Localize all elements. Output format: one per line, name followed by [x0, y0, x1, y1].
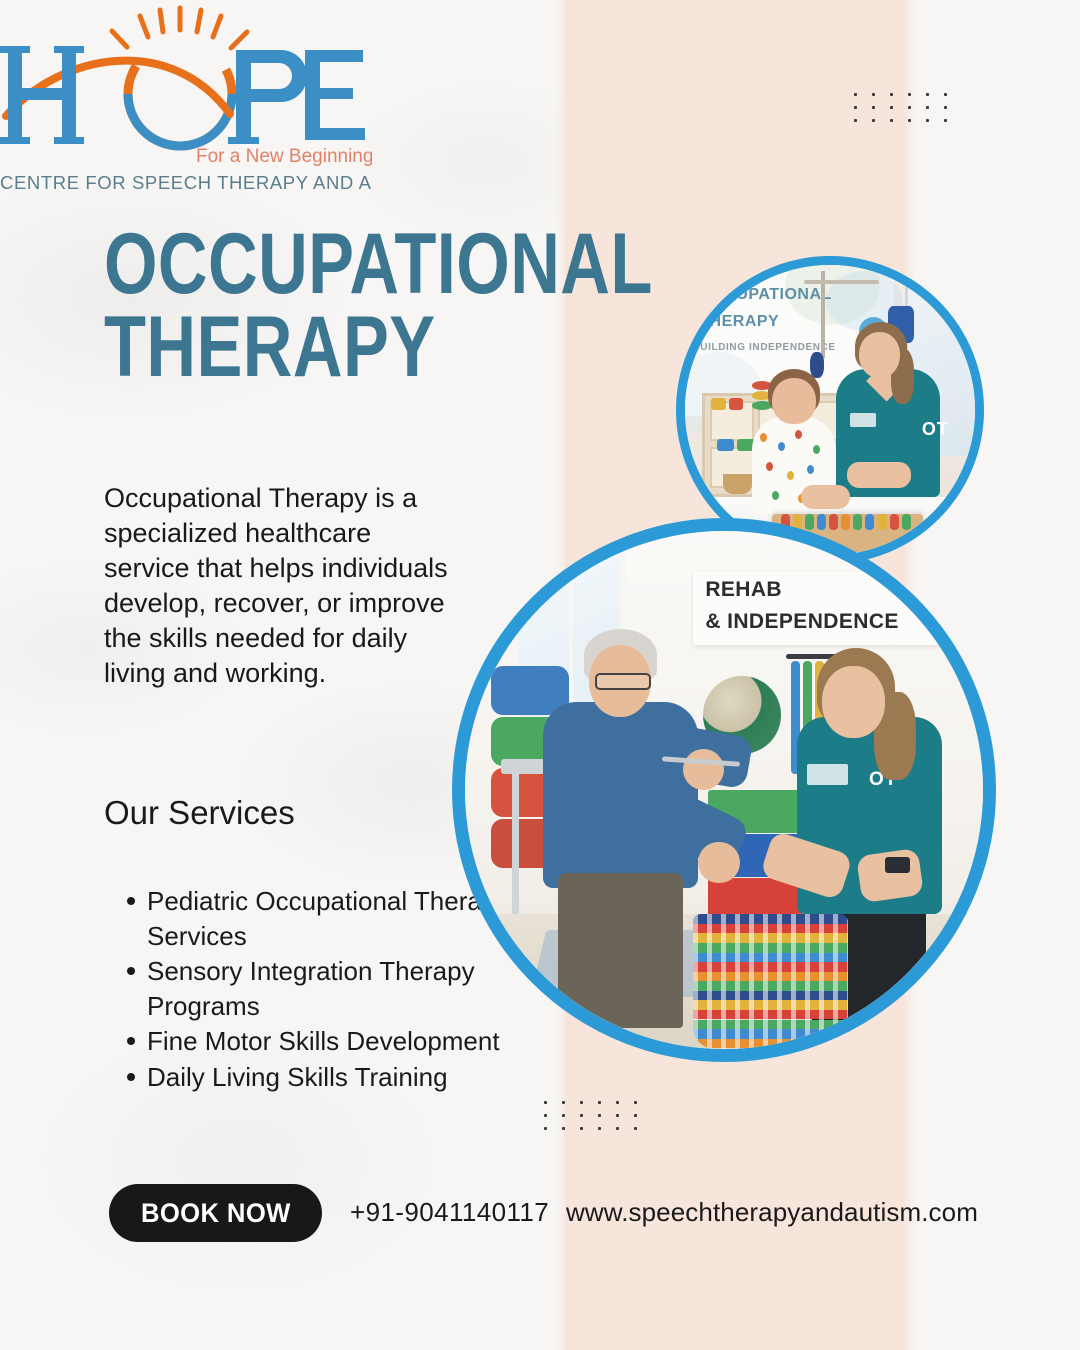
- services-list: Pediatric Occupational Therapy Services …: [104, 884, 524, 1095]
- eyeglasses-icon: [595, 673, 652, 690]
- swing-handle: [810, 352, 825, 378]
- poster-line-1: OCCUPATIONAL: [699, 286, 832, 304]
- sign-line-1: REHAB: [705, 578, 782, 602]
- website-url[interactable]: www.speechtherapyandautism.com: [566, 1197, 978, 1228]
- elderly-man-legs: [558, 873, 682, 1028]
- pediatric-therapy-scene: OCCUPATIONAL THERAPY BUILDING INDEPENDEN…: [685, 265, 975, 555]
- therapist-name-badge: [807, 764, 848, 785]
- therapist-head: [822, 666, 884, 739]
- swing-strap: [821, 271, 825, 358]
- girl-arm: [801, 485, 850, 508]
- contact-footer: BOOK NOW +91-9041140117 www.speechtherap…: [0, 1183, 1080, 1253]
- therapist-head: [859, 332, 900, 378]
- list-item: Daily Living Skills Training: [104, 1060, 524, 1095]
- toy-basket: [723, 474, 752, 494]
- logo-letters: [0, 46, 365, 144]
- wall-sign: REHAB & INDEPENDENCE: [693, 572, 942, 645]
- therapist-watch: [885, 857, 911, 873]
- girl-head: [772, 378, 816, 424]
- logo-tagline: For a New Beginning: [196, 146, 372, 167]
- hope-logo-svg: For a New Beginning CENTRE FOR SPEECH TH…: [0, 4, 372, 194]
- toy-block: [711, 398, 726, 410]
- therapist-name-badge: [850, 413, 876, 428]
- therapist-arm: [847, 462, 911, 488]
- headline-line-2: THERAPY: [104, 309, 480, 386]
- services-heading: Our Services: [104, 794, 295, 832]
- book-now-button[interactable]: BOOK NOW: [109, 1184, 322, 1242]
- dot-grid-decoration-bottom: [544, 1101, 652, 1140]
- list-item: Fine Motor Skills Development: [104, 1024, 524, 1059]
- rainbow-basket: [693, 914, 848, 1049]
- sun-rays-icon: [112, 8, 247, 48]
- phone-number[interactable]: +91-9041140117: [350, 1197, 549, 1228]
- elderly-man-hand-lower: [698, 842, 739, 883]
- headline-line-1: OCCUPATIONAL: [104, 226, 480, 303]
- book-now-label: BOOK NOW: [141, 1198, 291, 1229]
- photo-circle-adult-rehab: REHAB & INDEPENDENCE: [452, 518, 996, 1062]
- poster-line-2: THERAPY: [699, 313, 779, 331]
- ceiling-bar: [804, 280, 879, 284]
- elderly-man-hand-upper: [683, 749, 724, 790]
- therapist-arm-right: [856, 848, 924, 903]
- page-title: OCCUPATIONAL THERAPY: [104, 226, 574, 387]
- adult-rehab-scene: REHAB & INDEPENDENCE: [465, 531, 983, 1049]
- brand-logo: For a New Beginning CENTRE FOR SPEECH TH…: [0, 4, 372, 194]
- logo-subtitle: CENTRE FOR SPEECH THERAPY AND AUTISM: [0, 172, 372, 193]
- dot-grid-decoration-top: [854, 93, 962, 132]
- polo-logo-ot: OT: [922, 419, 949, 440]
- toy-block: [729, 398, 744, 410]
- toy-block: [717, 439, 734, 451]
- list-item: Pediatric Occupational Therapy Services: [104, 884, 524, 953]
- list-item: Sensory Integration Therapy Programs: [104, 954, 524, 1023]
- intro-paragraph: Occupational Therapy is a specialized he…: [104, 481, 464, 692]
- sign-line-2: & INDEPENDENCE: [705, 610, 898, 634]
